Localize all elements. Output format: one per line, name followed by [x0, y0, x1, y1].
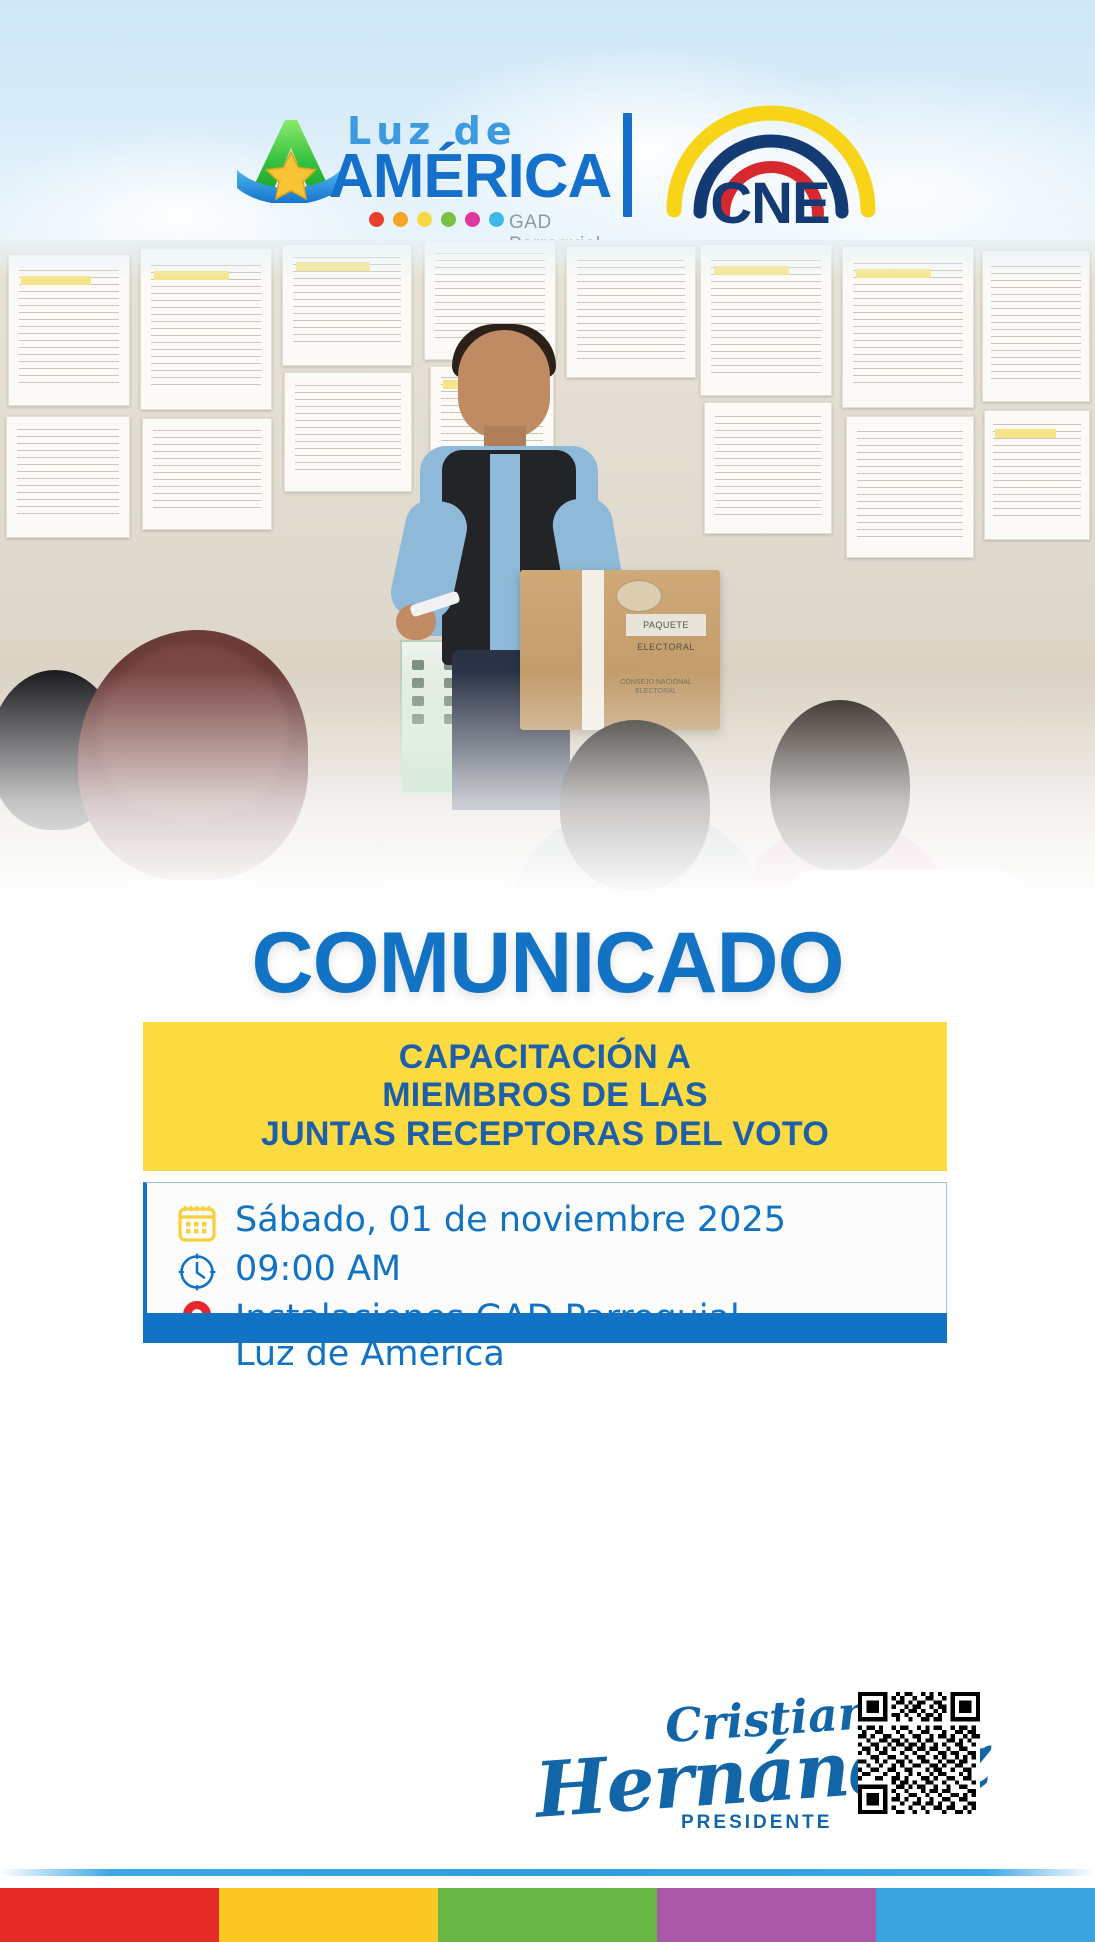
qr-code[interactable] [858, 1692, 980, 1814]
banner-subtitle: CAPACITACIÓN A MIEMBROS DE LAS JUNTAS RE… [143, 1022, 947, 1171]
cne-logo: CNE [666, 102, 876, 228]
clock-icon [175, 1250, 219, 1294]
footer-accent-line [0, 1869, 1095, 1876]
brand-color-dots [369, 212, 504, 227]
detail-row-date: Sábado, 01 de noviembre 2025 [175, 1201, 946, 1245]
detail-date-text: Sábado, 01 de noviembre 2025 [235, 1201, 786, 1239]
card-bottom-strip [143, 1313, 947, 1343]
footer-swatch-green [438, 1888, 657, 1942]
detail-row-time: 09:00 AM [175, 1250, 946, 1294]
header-divider [623, 113, 632, 217]
cne-label: CNE [670, 170, 870, 237]
calendar-icon [175, 1201, 219, 1245]
footer-swatch-red [0, 1888, 219, 1942]
footer-swatch-yellow [219, 1888, 438, 1942]
footer-swatch-purple [657, 1888, 876, 1942]
signature-block: Cristian Hernández PRESIDENTE [545, 1690, 825, 1830]
header-logos: Luz de AMÉRICA GAD Parroquial CNE [0, 100, 1095, 230]
footer-swatch-blue [876, 1888, 1095, 1942]
brand-main-word: AMÉRICA [329, 146, 611, 208]
box-label: PAQUETE ELECTORAL [626, 614, 706, 636]
footer-color-bar [0, 1888, 1095, 1942]
luz-de-america-logo: Luz de AMÉRICA GAD Parroquial [219, 100, 609, 230]
photo-top-fade [0, 240, 1095, 280]
banner-line-1: CAPACITACIÓN A [143, 1038, 947, 1076]
event-photo: PAQUETE ELECTORAL CONSEJO NACIONAL ELECT… [0, 240, 1095, 900]
signature-role: PRESIDENTE [681, 1812, 832, 1834]
detail-time-text: 09:00 AM [235, 1250, 401, 1288]
poster-root: Luz de AMÉRICA GAD Parroquial CNE [0, 0, 1095, 1942]
photo-bottom-fade [0, 670, 1095, 900]
banner-line-3: JUNTAS RECEPTORAS DEL VOTO [143, 1115, 947, 1153]
event-details-card: Sábado, 01 de noviembre 2025 09:00 AM [143, 1182, 947, 1317]
banner-line-2: MIEMBROS DE LAS [143, 1076, 947, 1114]
page-title: COMUNICADO [0, 920, 1095, 1006]
